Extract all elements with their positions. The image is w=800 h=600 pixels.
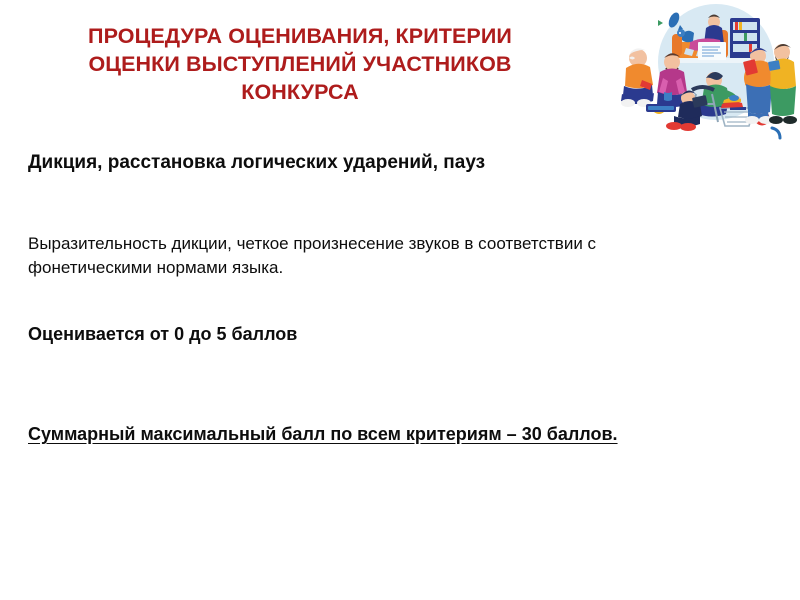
score-range-text: Оценивается от 0 до 5 баллов (28, 322, 297, 346)
total-score-text: Суммарный максимальный балл по всем крит… (28, 422, 618, 446)
slide-body: Дикция, расстановка логических ударений,… (28, 150, 768, 176)
criterion-description: Выразительность дикции, четкое произнесе… (28, 232, 603, 280)
page-title: ПРОЦЕДУРА ОЦЕНИВАНИЯ, КРИТЕРИИ ОЦЕНКИ ВЫ… (40, 22, 560, 106)
slide-canvas: ПРОЦЕДУРА ОЦЕНИВАНИЯ, КРИТЕРИИ ОЦЕНКИ ВЫ… (0, 0, 800, 600)
criterion-heading: Дикция, расстановка логических ударений,… (28, 150, 768, 176)
people-reading-illustration (612, 0, 800, 145)
title-block: ПРОЦЕДУРА ОЦЕНИВАНИЯ, КРИТЕРИИ ОЦЕНКИ ВЫ… (40, 22, 560, 106)
